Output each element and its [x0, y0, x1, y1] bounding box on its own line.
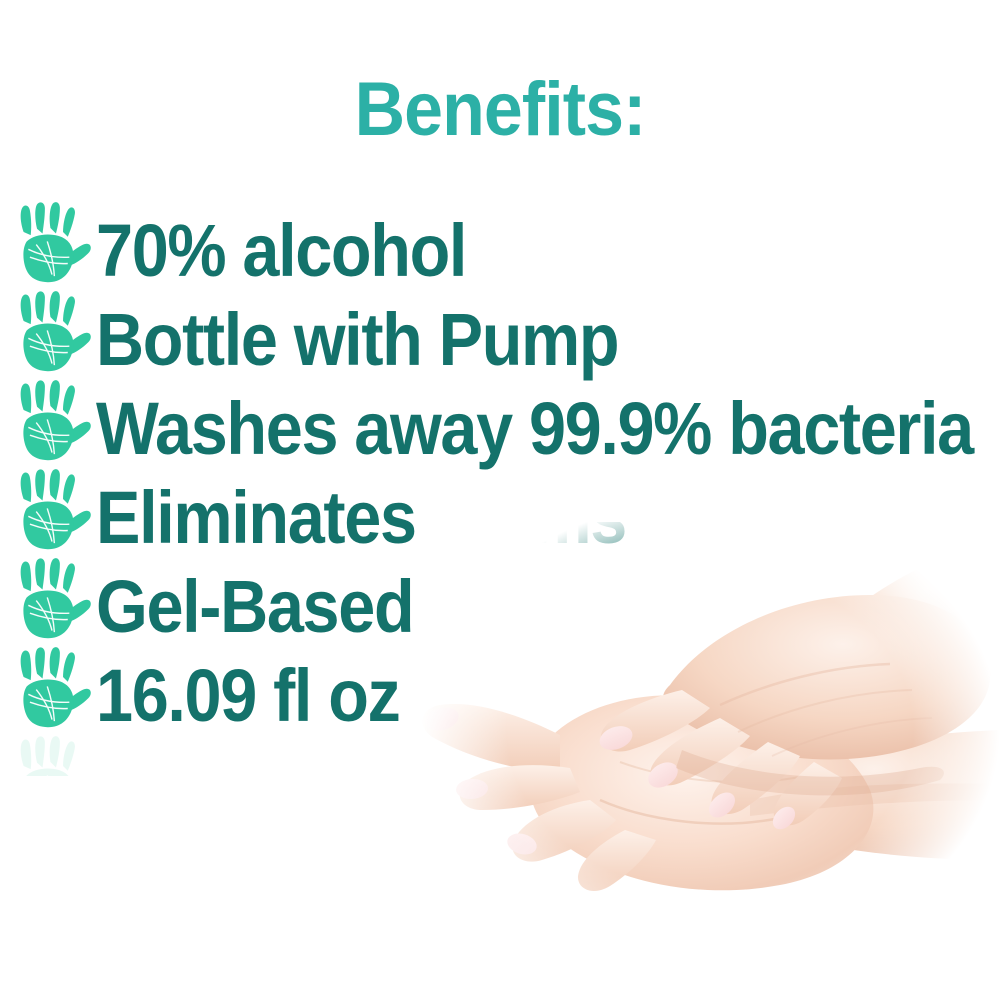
hands-photo	[420, 500, 1000, 960]
benefit-label: Washes away 99.9% bacteria	[96, 392, 973, 466]
handprint-icon	[12, 558, 92, 640]
benefit-item: Washes away 99.9% bacteria	[0, 384, 1000, 473]
page-title: Benefits:	[40, 72, 960, 148]
handprint-icon	[12, 647, 92, 729]
handprint-icon-partial	[12, 736, 92, 776]
handprint-icon	[12, 469, 92, 551]
handprint-icon	[12, 291, 92, 373]
handprint-icon	[12, 202, 92, 284]
handprint-icon	[12, 380, 92, 462]
benefit-item: 70% alcohol	[0, 206, 1000, 295]
benefit-label: 16.09 fl oz	[96, 659, 399, 733]
benefit-label: 70% alcohol	[96, 214, 466, 288]
benefit-item: Bottle with Pump	[0, 295, 1000, 384]
benefit-label: Bottle with Pump	[96, 303, 618, 377]
benefit-label: Gel-Based	[96, 570, 413, 644]
benefits-infographic: Benefits: 70% alcoholBottle with PumpWas…	[0, 0, 1000, 1000]
